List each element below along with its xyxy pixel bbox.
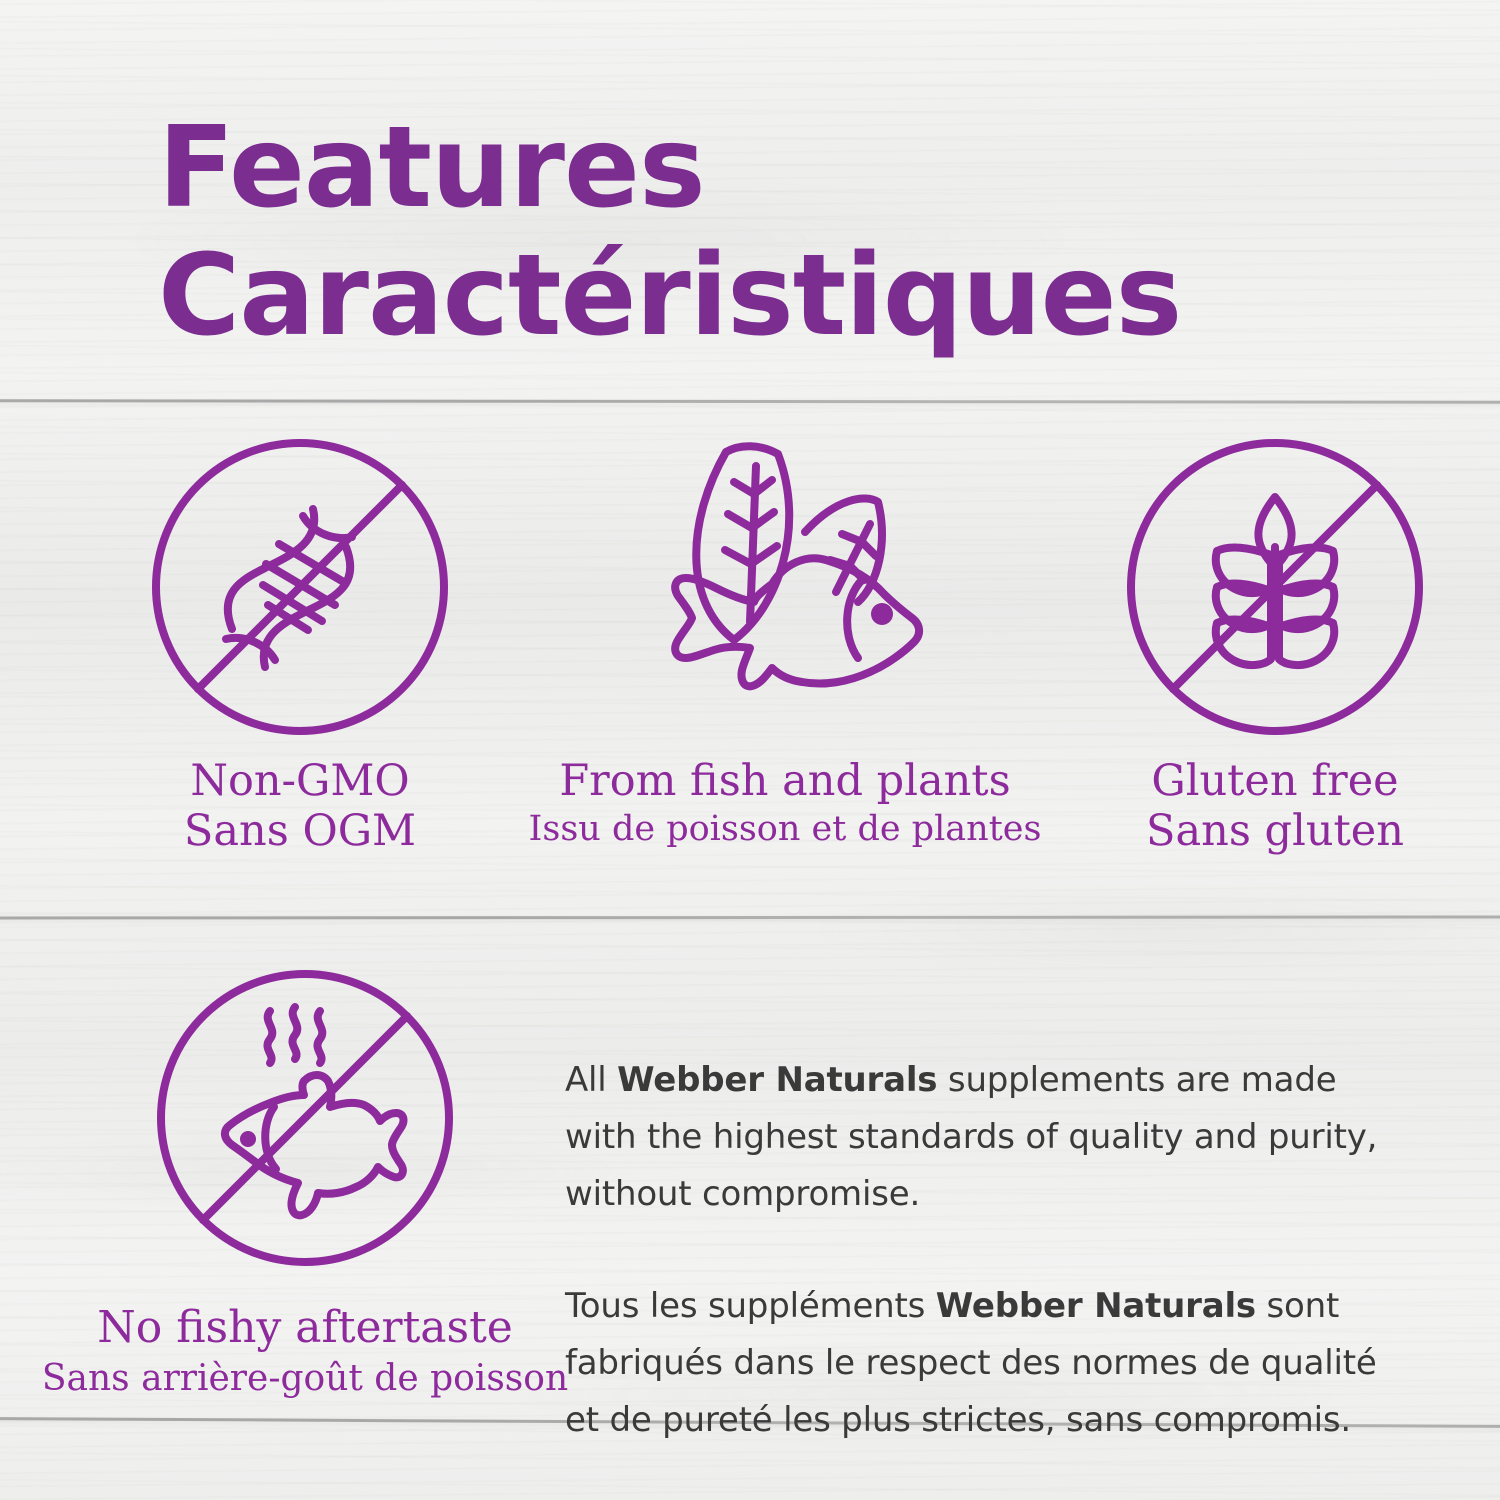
feature-fish-and-plants: From fish and plants Issu de poisson et … [525,432,1045,856]
body-paragraph-french: Tous les suppléments Webber Naturals son… [565,1278,1395,1449]
page-title-english: Features [158,104,1181,232]
feature-non-gmo: Non-GMO Sans OGM [75,432,525,856]
feature-non-gmo-caption: Non-GMO Sans OGM [184,756,416,856]
feature-fish-and-plants-art [630,432,940,742]
features-panel: Features Caractéristiques [0,0,1500,1500]
feature-row-top: Non-GMO Sans OGM [0,432,1500,856]
no-gluten-wheat-icon [1125,437,1425,737]
body-paragraph-english: All Webber Naturals supplements are made… [565,1052,1395,1223]
feature-gluten-free-label-fr: Sans gluten [1146,806,1404,856]
body-en-brand: Webber Naturals [617,1060,937,1100]
feature-non-gmo-art [150,432,450,742]
fish-and-leaves-icon [630,432,940,742]
feature-fish-and-plants-label-fr: Issu de poisson et de plantes [529,806,1042,852]
body-en-before: All [565,1060,617,1100]
no-gmo-dna-icon [150,437,450,737]
feature-gluten-free-label-en: Gluten free [1146,756,1404,806]
body-fr-before: Tous les suppléments [565,1286,936,1326]
feature-fish-and-plants-caption: From fish and plants Issu de poisson et … [529,756,1042,852]
feature-non-gmo-label-fr: Sans OGM [184,806,416,856]
feature-gluten-free-art [1125,432,1425,742]
feature-no-fishy-aftertaste-label-fr: Sans arrière-goût de poisson [42,1354,568,1404]
feature-no-fishy-aftertaste: No fishy aftertaste Sans arrière-goût de… [45,960,565,1404]
body-fr-brand: Webber Naturals [936,1286,1256,1326]
feature-gluten-free-caption: Gluten free Sans gluten [1146,756,1404,856]
body-copy: All Webber Naturals supplements are made… [565,960,1395,1483]
feature-no-fishy-aftertaste-label-en: No fishy aftertaste [42,1302,568,1354]
no-fishy-aftertaste-icon [152,965,458,1271]
page-title-french: Caractéristiques [158,232,1181,360]
feature-no-fishy-aftertaste-art [152,960,458,1276]
page-title: Features Caractéristiques [158,104,1181,360]
feature-gluten-free: Gluten free Sans gluten [1075,432,1475,856]
feature-no-fishy-aftertaste-caption: No fishy aftertaste Sans arrière-goût de… [42,1302,568,1404]
feature-row-bottom: No fishy aftertaste Sans arrière-goût de… [0,960,1500,1483]
feature-fish-and-plants-label-en: From fish and plants [529,756,1042,806]
feature-non-gmo-label-en: Non-GMO [184,756,416,806]
